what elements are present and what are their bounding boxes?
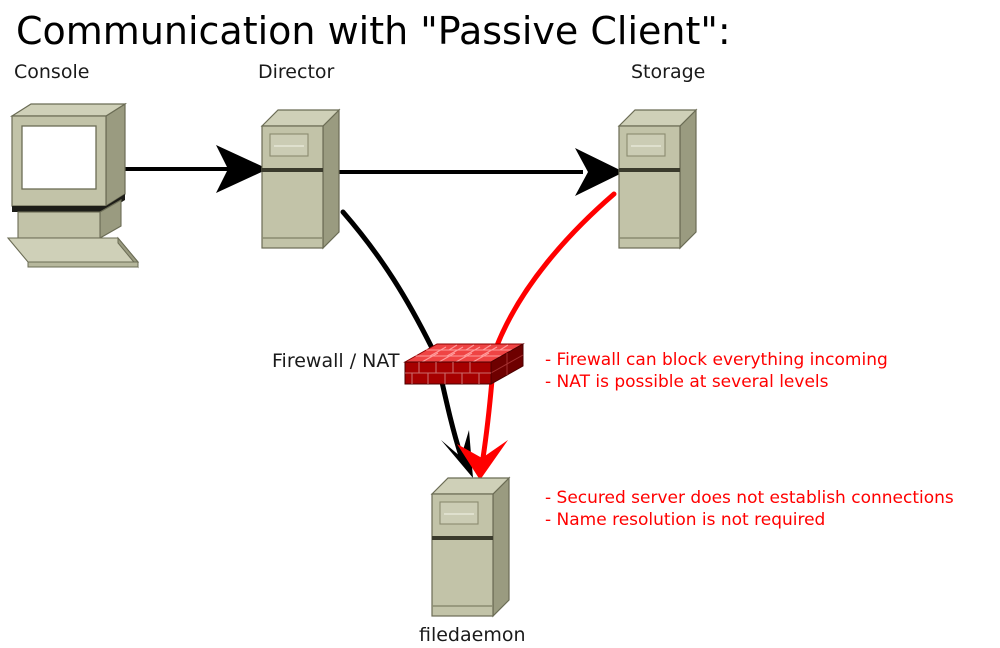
connection-storage-to-filedaemon xyxy=(457,194,614,480)
node-director[interactable] xyxy=(262,110,339,248)
node-filedaemon[interactable] xyxy=(432,478,509,616)
network-diagram: Communication with "Passive Client": Con… xyxy=(0,0,1000,648)
note-line: - Name resolution is not required xyxy=(545,510,825,530)
page-title: Communication with "Passive Client": xyxy=(16,9,731,53)
node-firewall[interactable] xyxy=(405,344,523,384)
node-console[interactable] xyxy=(8,104,138,267)
node-label-storage: Storage xyxy=(631,61,705,83)
node-label-console: Console xyxy=(14,61,89,83)
connection-director-to-storage xyxy=(332,148,624,196)
diagram-canvas: Communication with "Passive Client": Con… xyxy=(0,0,1000,648)
note-line: - NAT is possible at several levels xyxy=(545,372,829,392)
note-line: - Firewall can block everything incoming xyxy=(545,350,888,370)
note-line: - Secured server does not establish conn… xyxy=(545,488,954,508)
node-label-firewall: Firewall / NAT xyxy=(272,350,400,372)
note-filedaemon-notes: - Secured server does not establish conn… xyxy=(545,488,954,530)
node-label-director: Director xyxy=(258,61,335,83)
node-label-filedaemon: filedaemon xyxy=(419,624,526,646)
connection-console-to-director xyxy=(108,145,268,193)
note-firewall-notes: - Firewall can block everything incoming… xyxy=(545,350,888,392)
node-storage[interactable] xyxy=(619,110,696,248)
